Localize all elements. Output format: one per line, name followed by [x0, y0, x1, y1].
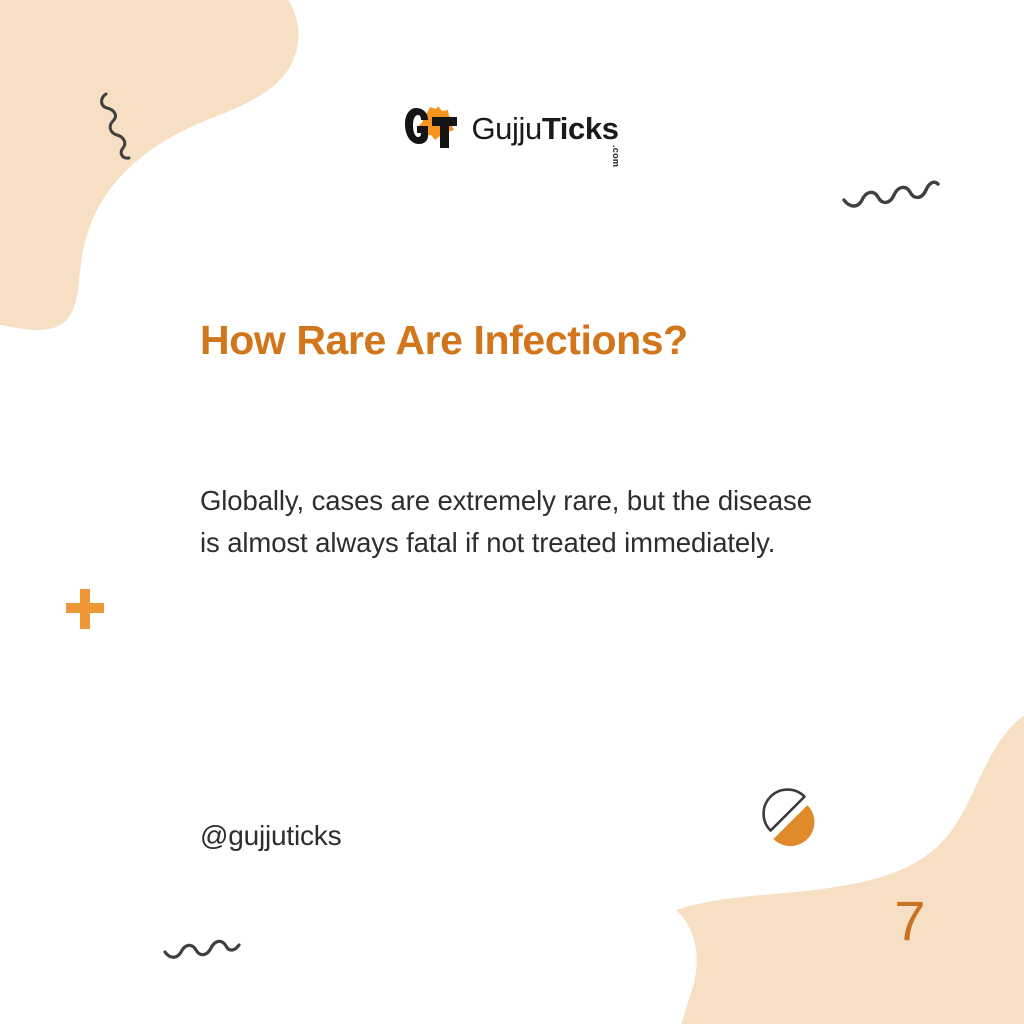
plus-mark-icon: [62, 586, 108, 632]
slide-canvas: GujjuTicks .com How Rare Are Infections?…: [0, 0, 1024, 1024]
brand-word-light: Gujju: [471, 111, 541, 146]
blob-bottom-right: [672, 700, 1024, 1024]
body-text: Globally, cases are extremely rare, but …: [200, 480, 825, 565]
social-handle: @gujjuticks: [200, 820, 341, 852]
page-title: How Rare Are Infections?: [200, 316, 900, 364]
brand-wordmark: GujjuTicks .com: [471, 113, 618, 144]
brand-logo: GujjuTicks .com: [0, 104, 1024, 152]
brand-word-bold: Ticks: [542, 111, 619, 146]
blob-top-left: [0, 0, 299, 330]
squiggle-bottom-left-icon: [160, 898, 244, 962]
page-number: 7: [880, 893, 940, 949]
gt-monogram-icon: [405, 104, 461, 152]
brand-tld: .com: [611, 145, 620, 167]
semicircle-pair-icon: [757, 783, 821, 847]
